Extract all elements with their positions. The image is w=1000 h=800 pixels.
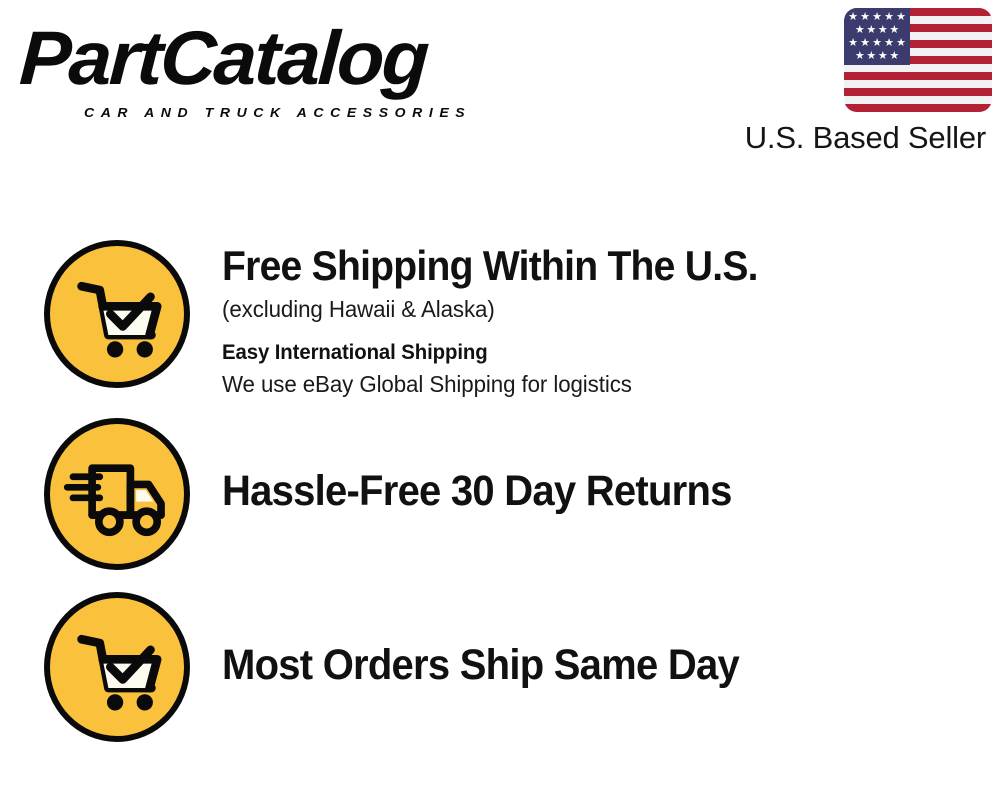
feature-title: Most Orders Ship Same Day (222, 640, 946, 690)
feature-row-free-shipping: Free Shipping Within The U.S. (excluding… (0, 240, 1000, 410)
flag-canton: ★ ★ ★ ★ ★ ★ ★ ★ ★ ★ ★ ★ ★ ★ (844, 8, 910, 65)
shopping-cart-check-icon (44, 592, 190, 742)
star-icon: ★ (889, 25, 899, 36)
delivery-truck-icon (44, 418, 190, 570)
feature-title: Hassle-Free 30 Day Returns (222, 466, 946, 516)
star-icon: ★ (878, 51, 888, 62)
flag-stripe (844, 80, 992, 88)
star-icon: ★ (878, 25, 888, 36)
feature-row-returns: Hassle-Free 30 Day Returns (0, 418, 1000, 573)
flag-stripe (844, 64, 992, 72)
star-icon: ★ (896, 12, 906, 23)
flag-stripe (844, 88, 992, 96)
flag-star-row: ★ ★ ★ ★ (844, 50, 910, 63)
page-header: PartCatalog CAR AND TRUCK ACCESSORIES ★ … (0, 0, 1000, 175)
star-icon: ★ (860, 38, 870, 49)
us-flag-icon: ★ ★ ★ ★ ★ ★ ★ ★ ★ ★ ★ ★ ★ ★ (844, 8, 992, 112)
star-icon: ★ (884, 38, 894, 49)
star-icon: ★ (889, 51, 899, 62)
flag-stripe (844, 72, 992, 80)
star-icon: ★ (884, 12, 894, 23)
star-icon: ★ (848, 12, 858, 23)
star-icon: ★ (872, 12, 882, 23)
brand-logo[interactable]: PartCatalog CAR AND TRUCK ACCESSORIES (22, 18, 492, 118)
star-icon: ★ (848, 38, 858, 49)
star-icon: ★ (866, 25, 876, 36)
star-icon: ★ (855, 51, 865, 62)
star-icon: ★ (860, 12, 870, 23)
brand-wordmark: PartCatalog (18, 18, 502, 100)
flag-star-row: ★ ★ ★ ★ ★ (844, 37, 910, 50)
shopping-cart-check-icon (44, 240, 190, 388)
feature-note: (excluding Hawaii & Alaska) (222, 292, 977, 326)
feature-title: Free Shipping Within The U.S. (222, 242, 946, 290)
star-icon: ★ (896, 38, 906, 49)
flag-stripe (844, 104, 992, 112)
feature-row-same-day-ship: Most Orders Ship Same Day (0, 592, 1000, 747)
seller-badge-label: U.S. Based Seller (722, 120, 986, 156)
feature-text-block: Most Orders Ship Same Day (190, 592, 1000, 690)
star-icon: ★ (855, 25, 865, 36)
flag-star-row: ★ ★ ★ ★ ★ (844, 11, 910, 24)
feature-text-block: Hassle-Free 30 Day Returns (190, 418, 1000, 516)
feature-sub-note: We use eBay Global Shipping for logistic… (222, 368, 977, 400)
flag-stripe (844, 96, 992, 104)
star-icon: ★ (872, 38, 882, 49)
feature-sub-title: Easy International Shipping (222, 338, 977, 368)
star-icon: ★ (866, 51, 876, 62)
brand-tagline: CAR AND TRUCK ACCESSORIES (84, 104, 471, 119)
us-based-seller-badge: ★ ★ ★ ★ ★ ★ ★ ★ ★ ★ ★ ★ ★ ★ (722, 8, 992, 156)
flag-star-row: ★ ★ ★ ★ (844, 24, 910, 37)
feature-text-block: Free Shipping Within The U.S. (excluding… (190, 240, 1000, 400)
